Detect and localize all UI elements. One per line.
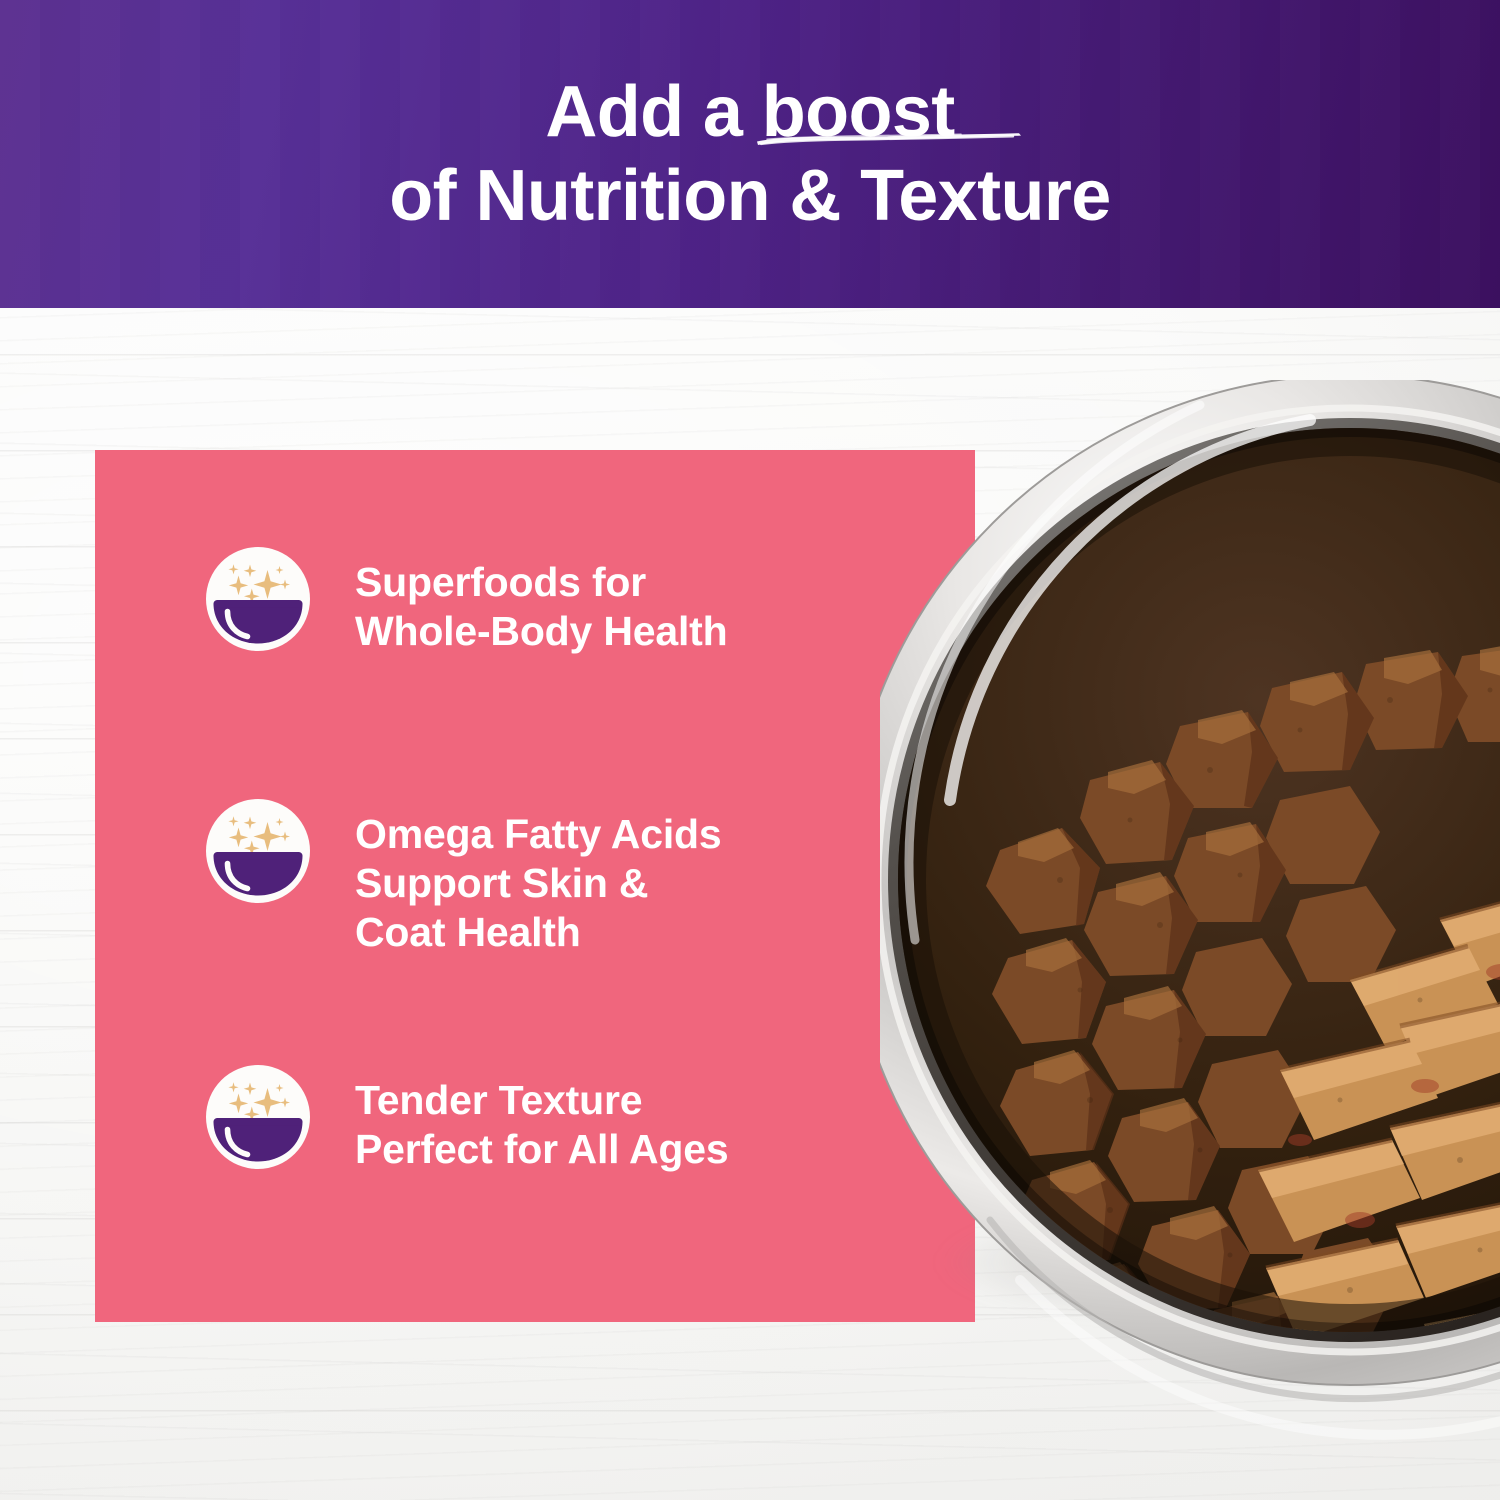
headline-line-1: Add a boost xyxy=(545,75,954,149)
feature-label: Omega Fatty Acids Support Skin & Coat He… xyxy=(355,798,721,958)
feature-2-line-1: Omega Fatty Acids xyxy=(355,810,721,859)
list-item: Superfoods for Whole-Body Health xyxy=(205,546,727,656)
feature-2-line-3: Coat Health xyxy=(355,908,721,957)
feature-2-line-2: Support Skin & xyxy=(355,859,721,908)
list-item: Tender Texture Perfect for All Ages xyxy=(205,1064,728,1174)
headline-line-2: of Nutrition & Texture xyxy=(389,159,1110,233)
feature-label: Tender Texture Perfect for All Ages xyxy=(355,1064,728,1174)
feature-1-line-2: Whole-Body Health xyxy=(355,607,727,656)
list-item: Omega Fatty Acids Support Skin & Coat He… xyxy=(205,798,721,958)
marketing-banner: Add a boost of Nutrition & Texture xyxy=(0,0,1500,1500)
sparkling-bowl-icon xyxy=(205,1064,311,1170)
page-title: Add a boost of Nutrition & Texture xyxy=(0,0,1500,308)
feature-3-line-1: Tender Texture xyxy=(355,1076,728,1125)
feature-1-line-1: Superfoods for xyxy=(355,558,727,607)
bowl-shadow xyxy=(905,1195,1500,1345)
sparkling-bowl-icon xyxy=(205,798,311,904)
feature-3-line-2: Perfect for All Ages xyxy=(355,1125,728,1174)
sparkling-bowl-icon xyxy=(205,546,311,652)
feature-label: Superfoods for Whole-Body Health xyxy=(355,546,727,656)
feature-list: Superfoods for Whole-Body Health xyxy=(205,546,935,1226)
